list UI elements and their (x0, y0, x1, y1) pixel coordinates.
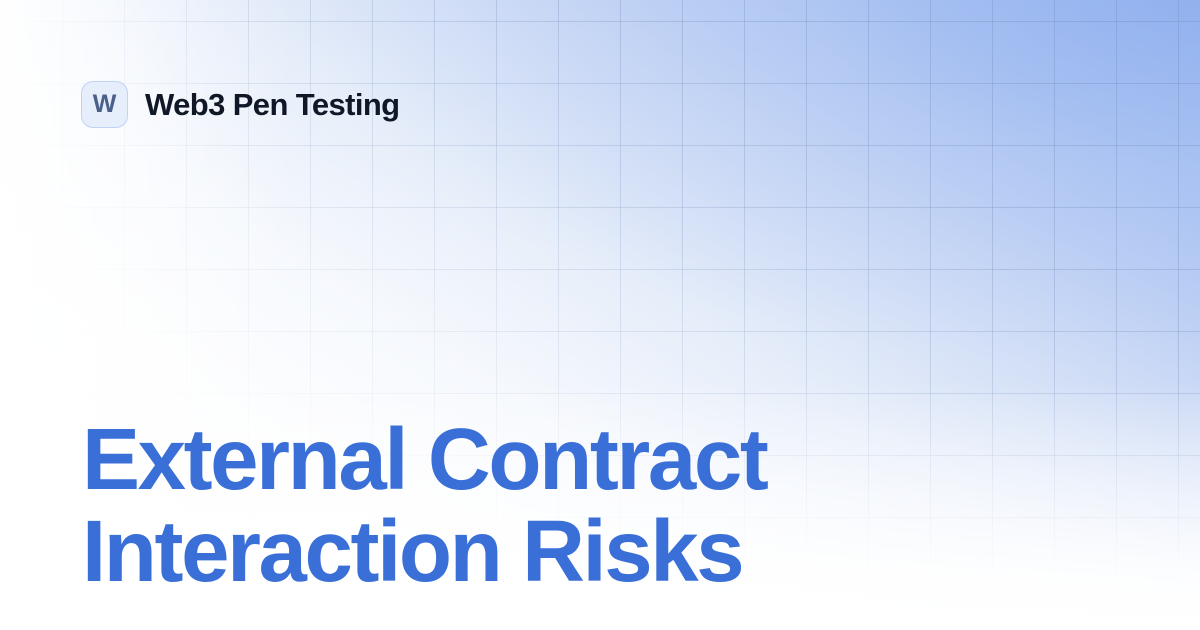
brand-lockup: W Web3 Pen Testing (81, 81, 400, 128)
og-card: W Web3 Pen Testing External Contract Int… (0, 0, 1200, 630)
page-title-line-2: Interaction Risks (82, 506, 1082, 598)
card-content: W Web3 Pen Testing External Contract Int… (0, 0, 1200, 630)
w-monogram-icon: W (93, 92, 117, 117)
page-title-line-1: External Contract (82, 414, 1082, 506)
brand-name-label: Web3 Pen Testing (145, 89, 400, 120)
brand-logo-badge: W (81, 81, 128, 128)
page-title: External Contract Interaction Risks (82, 414, 1082, 598)
